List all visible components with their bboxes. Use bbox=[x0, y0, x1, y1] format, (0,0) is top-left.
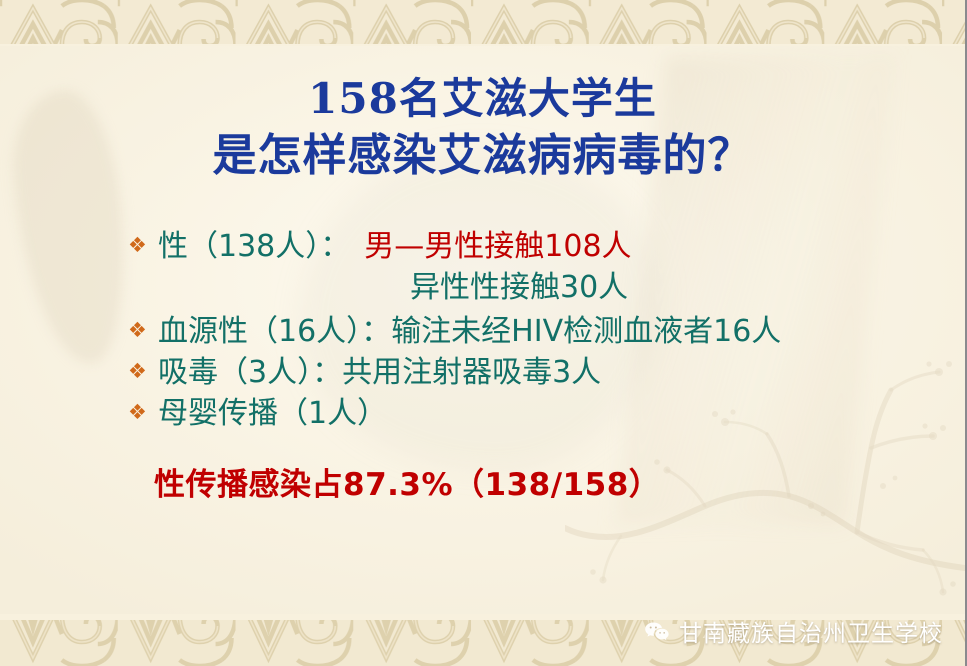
list-item-content: 母婴传播（1人） bbox=[158, 399, 925, 429]
content-list: ❖ 性（138人）：男—男性接触108人 异性性接触30人 ❖ 血源性（16人）… bbox=[128, 232, 925, 504]
list-item-label: 母婴传播（1人） bbox=[158, 396, 387, 431]
list-item-value: 共用注射器吸毒3人 bbox=[342, 355, 601, 390]
title-line-2: 是怎样感染艾滋病病毒的？ bbox=[0, 127, 965, 184]
list-item-value: 男—男性接触108人 bbox=[364, 229, 631, 264]
list-item-subline: 异性性接触30人 bbox=[128, 273, 925, 303]
list-item-content: 吸毒（3人）：共用注射器吸毒3人 bbox=[158, 358, 925, 388]
list-item: ❖ 血源性（16人）：输注未经HIV检测血液者16人 bbox=[128, 317, 925, 347]
list-item: ❖ 母婴传播（1人） bbox=[128, 399, 925, 429]
spacer bbox=[128, 273, 410, 303]
summary-statistic: 性传播感染占87.3%（138/158） bbox=[154, 459, 925, 504]
title-line-1: 158名艾滋大学生 bbox=[0, 72, 965, 127]
list-item-label: 吸毒（3人）： bbox=[158, 355, 342, 390]
footer-text: 甘南藏族自治州卫生学校 bbox=[679, 614, 943, 648]
bullet-diamond-icon: ❖ bbox=[128, 358, 158, 386]
list-item-content: 性（138人）：男—男性接触108人 bbox=[158, 232, 925, 262]
footer-watermark: 甘南藏族自治州卫生学校 bbox=[643, 614, 943, 648]
bullet-diamond-icon: ❖ bbox=[128, 232, 158, 260]
list-item-content: 血源性（16人）：输注未经HIV检测血液者16人 bbox=[158, 317, 925, 347]
list-item: ❖ 吸毒（3人）：共用注射器吸毒3人 bbox=[128, 358, 925, 388]
bullet-diamond-icon: ❖ bbox=[128, 317, 158, 345]
slide-canvas: 158名艾滋大学生 是怎样感染艾滋病病毒的？ ❖ 性（138人）：男—男性接触1… bbox=[0, 0, 967, 666]
list-item-label: 血源性（16人）： bbox=[158, 314, 391, 349]
bullet-diamond-icon: ❖ bbox=[128, 399, 158, 427]
list-item-subvalue: 异性性接触30人 bbox=[410, 273, 628, 303]
list-item-label: 性（138人）： bbox=[158, 229, 350, 264]
page-title: 158名艾滋大学生 是怎样感染艾滋病病毒的？ bbox=[0, 72, 965, 184]
wechat-icon bbox=[643, 618, 670, 645]
list-item-value: 输注未经HIV检测血液者16人 bbox=[391, 314, 781, 349]
list-item: ❖ 性（138人）：男—男性接触108人 bbox=[128, 232, 925, 262]
